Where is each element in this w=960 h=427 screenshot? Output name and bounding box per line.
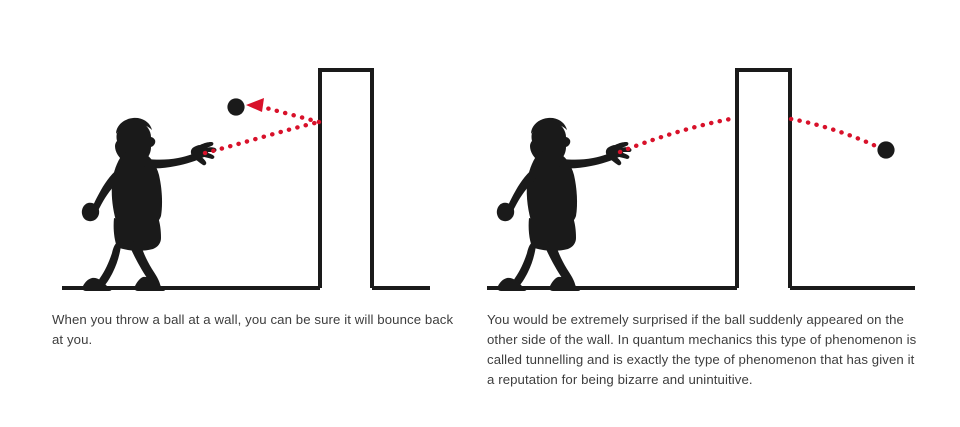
caption-quantum: You would be extremely surprised if the … [487,310,917,390]
wall-barrier [320,70,372,288]
panel-classical: When you throw a ball at a wall, you can… [0,0,470,427]
figure-root: When you throw a ball at a wall, you can… [0,0,960,427]
tunnelled-trajectory [791,119,880,148]
ball [877,141,894,158]
scene-quantum-diagram [470,0,960,300]
incoming-trajectory [620,118,736,152]
outgoing-trajectory [205,122,319,153]
bounce-back-trajectory [262,107,319,122]
boy-throwing-silhouette [497,118,632,291]
caption-classical: When you throw a ball at a wall, you can… [52,310,462,350]
boy-throwing-silhouette [82,118,217,291]
bounce-arrowhead [246,98,264,112]
scene-classical-diagram [0,0,470,300]
panel-quantum: You would be extremely surprised if the … [470,0,960,427]
wall-barrier [737,70,790,288]
ball [227,98,244,115]
